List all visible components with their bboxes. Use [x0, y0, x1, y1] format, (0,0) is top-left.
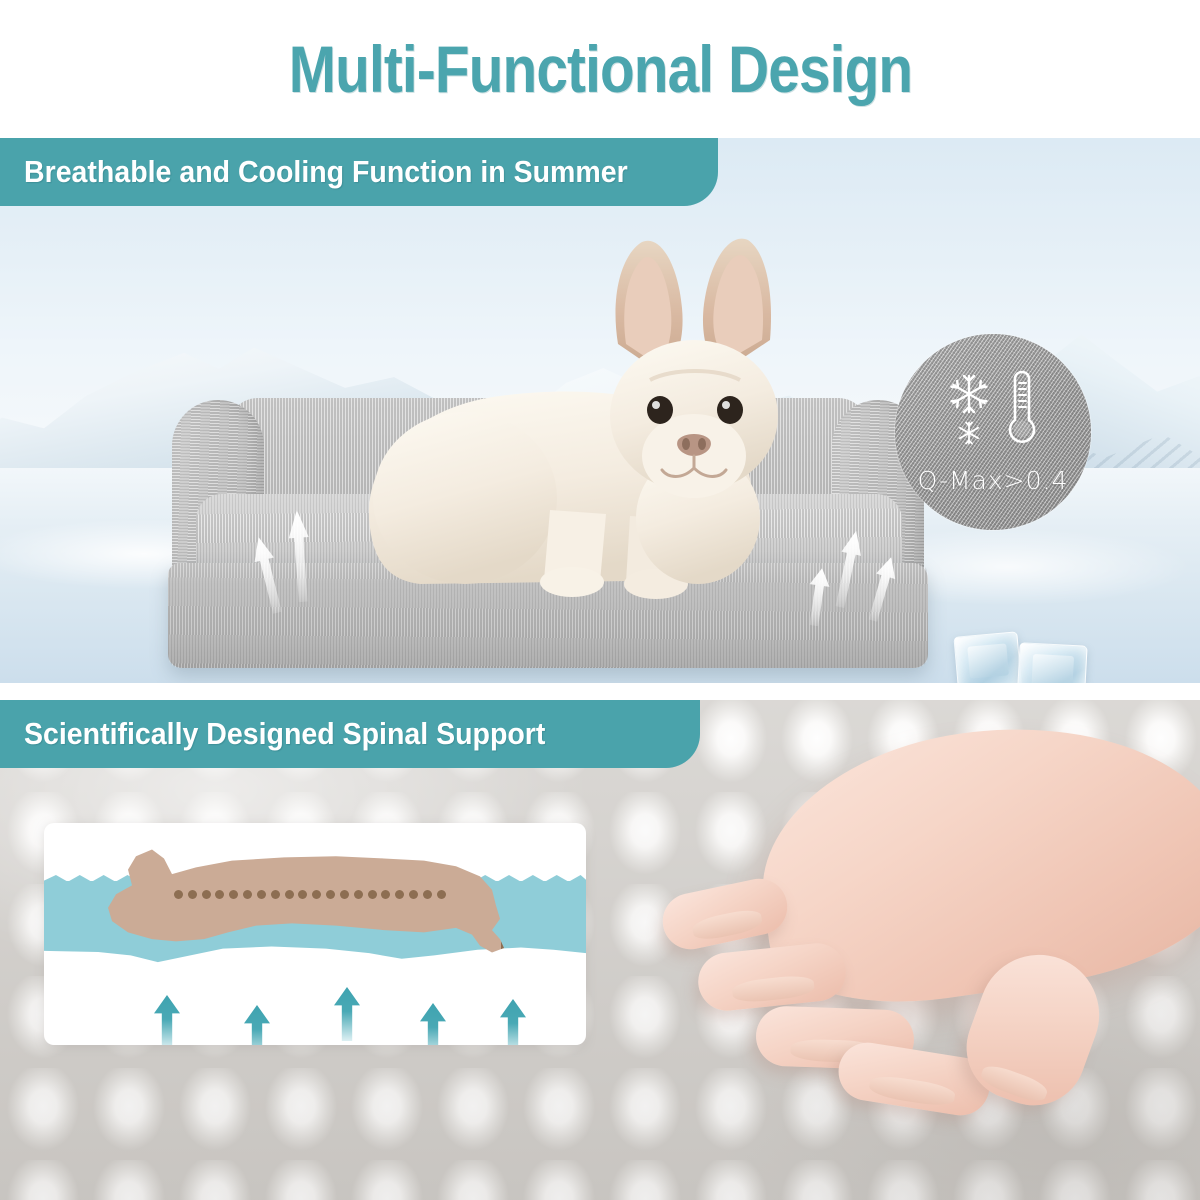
- thermometer-icon: [1005, 366, 1039, 452]
- ice-cube: [953, 631, 1022, 683]
- spine-dot: [409, 890, 418, 899]
- q-max-label: Q-Max>0.4: [918, 466, 1069, 495]
- page-title: Multi-Functional Design: [288, 31, 911, 107]
- infographic-page: Multi-Functional Design: [0, 0, 1200, 1200]
- header-title-zone: Multi-Functional Design: [0, 0, 1200, 138]
- ice-cube: [1016, 642, 1087, 683]
- spine-dot: [354, 890, 363, 899]
- section-cooling: COZY KISS: [0, 138, 1200, 683]
- spine-dot: [312, 890, 321, 899]
- snowflake-large-icon: [947, 372, 991, 416]
- banner-cooling-label: Breathable and Cooling Function in Summe…: [24, 154, 628, 190]
- snowflake-group: [947, 372, 991, 446]
- spine-dot: [340, 890, 349, 899]
- spine-dot: [202, 890, 211, 899]
- q-max-badge: Q-Max>0.4: [895, 334, 1091, 530]
- spine-dot: [215, 890, 224, 899]
- banner-spinal-support: Scientifically Designed Spinal Support: [0, 700, 700, 768]
- hand-pressing-foam: [570, 720, 1200, 1150]
- banner-spinal-support-label: Scientifically Designed Spinal Support: [24, 716, 545, 752]
- support-arrow-up-icon: [334, 987, 360, 1041]
- spine-dot: [285, 890, 294, 899]
- spine-dot: [381, 890, 390, 899]
- spine-dot: [271, 890, 280, 899]
- spine-dot: [174, 890, 183, 899]
- spine-dot: [395, 890, 404, 899]
- spine-dot: [423, 890, 432, 899]
- spine-dot: [257, 890, 266, 899]
- banner-cooling: Breathable and Cooling Function in Summe…: [0, 138, 718, 206]
- badge-icon-row: [947, 366, 1039, 452]
- spine-dot: [243, 890, 252, 899]
- snowflake-small-icon: [956, 420, 982, 446]
- spine-dot: [326, 890, 335, 899]
- spinal-support-diagram: [44, 823, 586, 1045]
- support-arrow-up-icon: [500, 999, 526, 1045]
- support-arrow-up-icon: [420, 1003, 446, 1045]
- spine-dot: [229, 890, 238, 899]
- support-arrows: [44, 981, 586, 1043]
- spine-dot: [368, 890, 377, 899]
- support-arrow-up-icon: [154, 995, 180, 1045]
- spine-dots: [174, 889, 446, 899]
- french-bulldog: [300, 198, 920, 638]
- spine-dot: [437, 890, 446, 899]
- hand-finger: [695, 940, 848, 1013]
- support-arrow-up-icon: [244, 1005, 270, 1045]
- ice-cubes: [940, 628, 1180, 683]
- spine-dot: [298, 890, 307, 899]
- spine-dot: [188, 890, 197, 899]
- section-spinal-support: [0, 700, 1200, 1200]
